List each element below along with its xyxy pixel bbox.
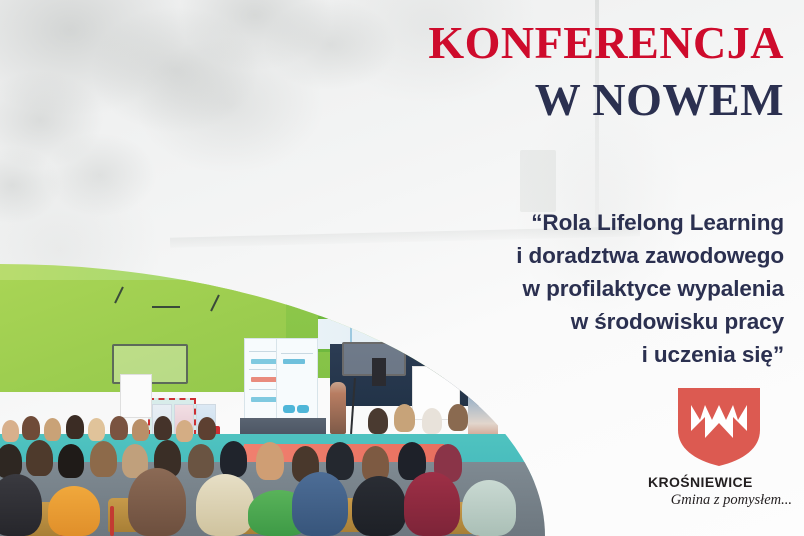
audience-member (90, 441, 117, 477)
page-title: KONFERENCJA W NOWEM (404, 20, 784, 124)
audience-member-front (462, 480, 516, 536)
audience-member (448, 404, 468, 431)
logo-tagline: Gmina z pomysłem... (648, 492, 796, 509)
subtitle-quote: “Rola Lifelong Learning i doradztwa zawo… (404, 206, 784, 371)
audience-member (44, 418, 61, 441)
presenter-speaker (330, 382, 346, 434)
audience-member-front (292, 472, 348, 536)
subtitle-line: w środowisku pracy (404, 305, 784, 338)
audience-member (110, 416, 128, 440)
projection-board-right (276, 338, 318, 420)
audience-member (188, 444, 214, 478)
audience-member (22, 416, 40, 440)
audience-member (26, 440, 53, 476)
krosniewice-logo: KROŚNIEWICE Gmina z pomysłem... (648, 386, 796, 518)
chair-leg (110, 506, 114, 536)
audience-member (154, 416, 172, 440)
audience-member (88, 418, 105, 441)
audience-member (132, 419, 149, 441)
shield-icon (676, 386, 762, 468)
audience-member-front (128, 468, 186, 536)
audience-member (58, 444, 84, 478)
subtitle-line: i doradztwa zawodowego (404, 239, 784, 272)
audience-member (220, 441, 247, 477)
subtitle-line: “Rola Lifelong Learning (404, 206, 784, 239)
conference-poster: KONFERENCJA W NOWEM “Rola Lifelong Learn… (0, 0, 804, 536)
title-line-w-nowem: W NOWEM (404, 77, 784, 124)
logo-municipality-name: KROŚNIEWICE (648, 474, 796, 490)
audience-member-front (48, 486, 100, 536)
audience-member (2, 420, 19, 442)
title-line-konferencja: KONFERENCJA (404, 20, 784, 67)
flipchart-left (120, 374, 152, 418)
audience-member (176, 420, 193, 442)
subtitle-line: i uczenia się” (404, 338, 784, 371)
audience-member-front (404, 472, 460, 536)
audience-member (198, 417, 216, 440)
wall-rope (152, 306, 180, 308)
audience-member (422, 408, 442, 434)
audience-member (0, 444, 22, 478)
background-building-detail (520, 150, 556, 212)
audience-member-front (352, 476, 406, 536)
audience-member (66, 415, 84, 439)
pa-speaker (372, 358, 386, 386)
audience-member (368, 408, 388, 434)
audience-member (394, 404, 415, 432)
audience-member-front (196, 474, 254, 536)
subtitle-line: w profilaktyce wypalenia (404, 272, 784, 305)
audience-member (256, 442, 284, 480)
